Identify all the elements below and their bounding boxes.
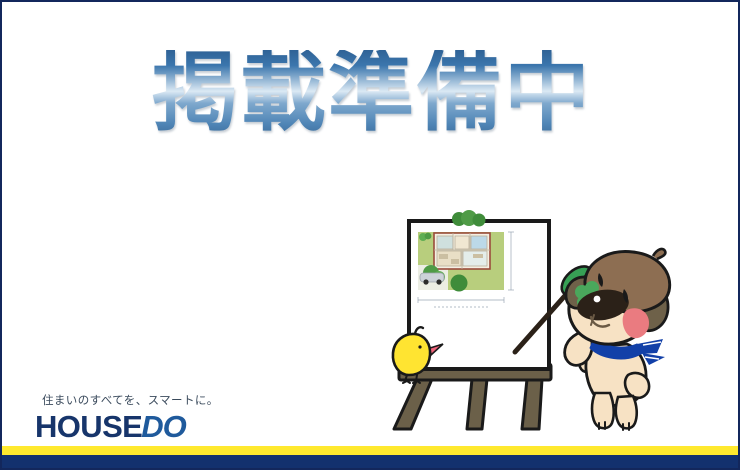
beret-stem bbox=[653, 249, 665, 259]
hedge-top bbox=[452, 210, 486, 227]
brand-tagline: 住まいのすべてを、スマートに。 bbox=[42, 392, 295, 408]
mascot-dog bbox=[565, 249, 670, 430]
brand-logo: HOUSEDO bbox=[35, 411, 295, 442]
snout-highlight bbox=[594, 296, 601, 303]
easel-legs bbox=[394, 379, 542, 429]
accent-bar-yellow bbox=[2, 446, 738, 455]
page-title: 掲載準備中 bbox=[2, 50, 740, 136]
brand-logo-house: HOUSE bbox=[35, 409, 142, 444]
illustration-dog-painting bbox=[387, 207, 732, 442]
listing-placeholder-card: 掲載準備中 bbox=[0, 0, 740, 470]
brand-block: 住まいのすべてを、スマートに。 HOUSEDO bbox=[35, 392, 295, 442]
chick-eye bbox=[418, 345, 421, 348]
floorplan-rooms bbox=[434, 233, 490, 269]
accent-bar-navy bbox=[2, 455, 738, 468]
brand-logo-do: DO bbox=[141, 409, 186, 444]
dog-front-paw bbox=[625, 373, 649, 398]
